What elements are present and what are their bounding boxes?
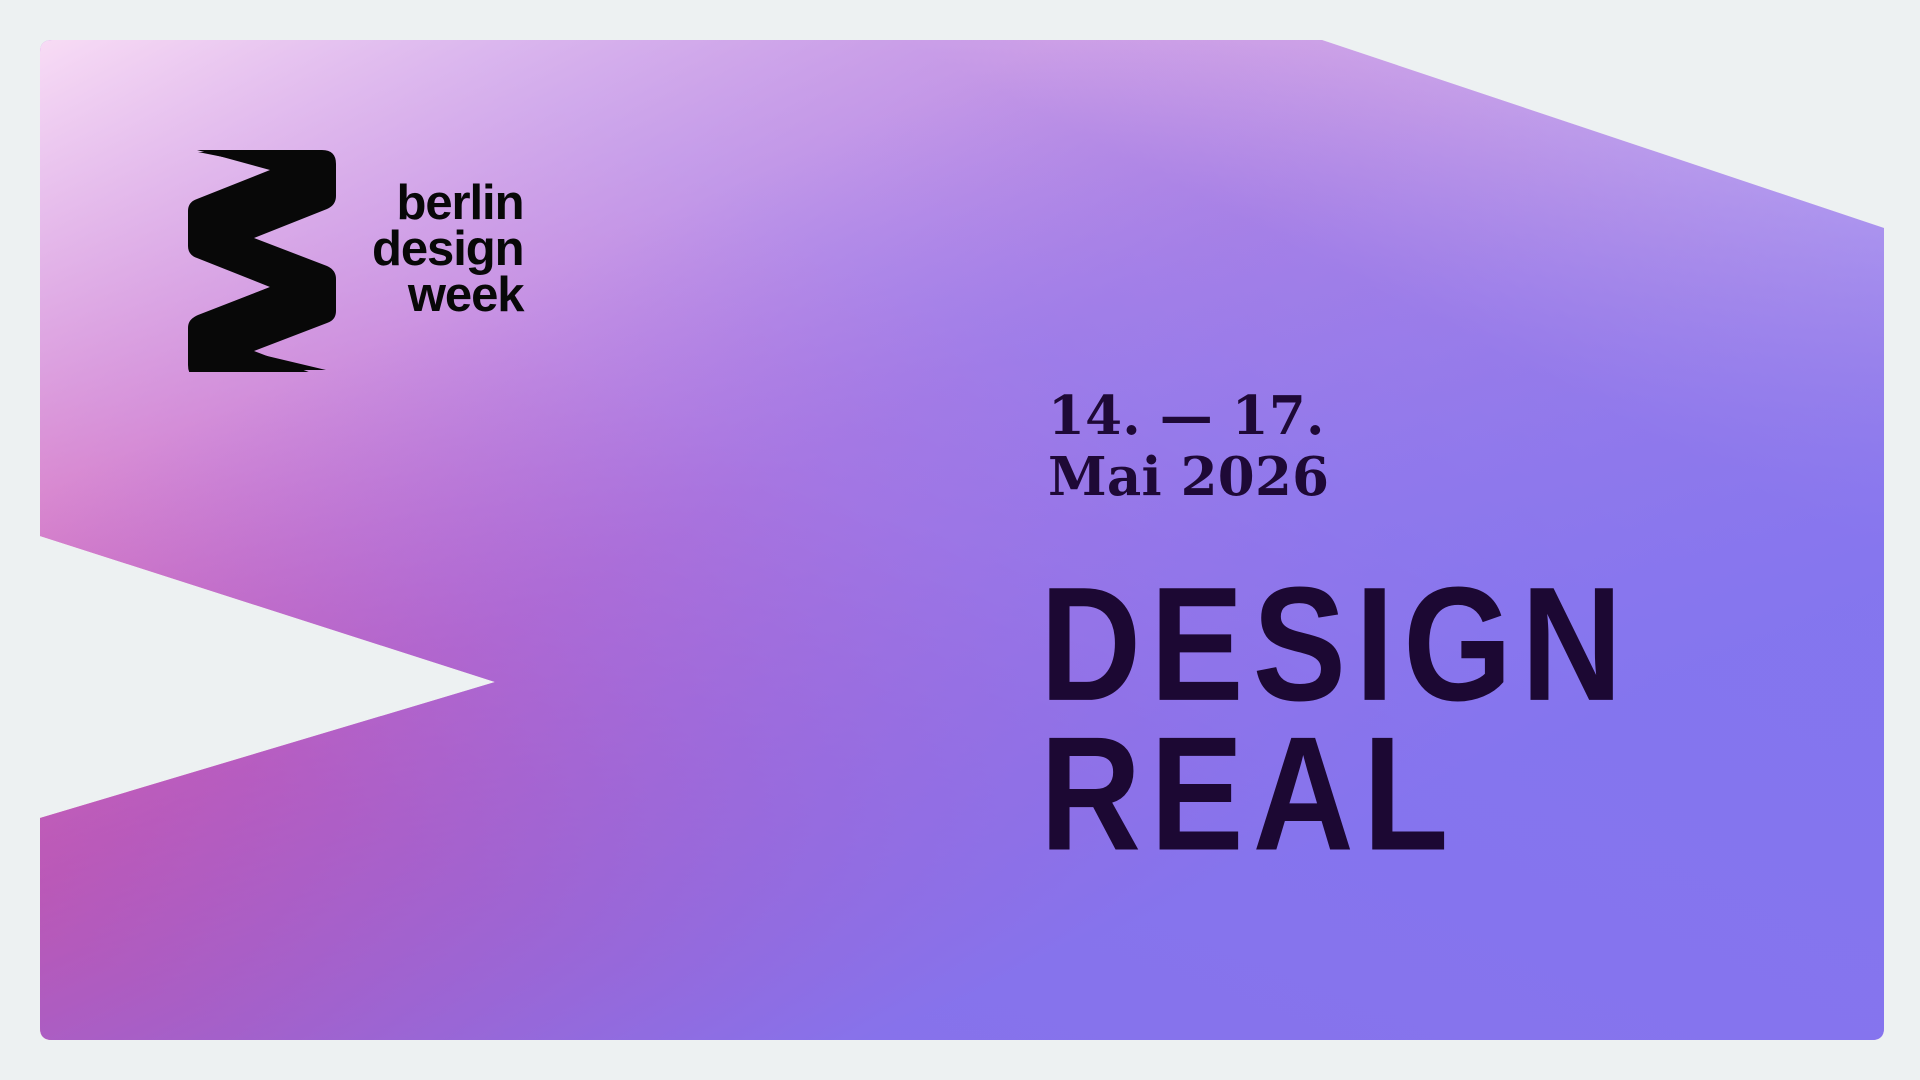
logo-lockup[interactable]: berlin design week (188, 150, 523, 372)
headline-line-2: REAL (1040, 719, 1631, 868)
logo-wordmark-line-2: design (372, 226, 523, 272)
event-date-month-year: Mai 2026 (1048, 447, 1329, 508)
poster-headline: DESIGN REAL (1040, 570, 1631, 869)
headline-line-1: DESIGN (1040, 570, 1631, 719)
logo-wordmark-line-3: week (372, 272, 523, 318)
poster-canvas: berlin design week 14. — 17. Mai 2026 DE… (0, 0, 1920, 1080)
logo-wordmark: berlin design week (372, 180, 523, 318)
event-dates: 14. — 17. Mai 2026 (1048, 386, 1329, 509)
logo-wordmark-line-1: berlin (372, 180, 523, 226)
event-date-range: 14. — 17. (1048, 386, 1329, 447)
berlin-design-week-mark-icon (188, 150, 346, 372)
